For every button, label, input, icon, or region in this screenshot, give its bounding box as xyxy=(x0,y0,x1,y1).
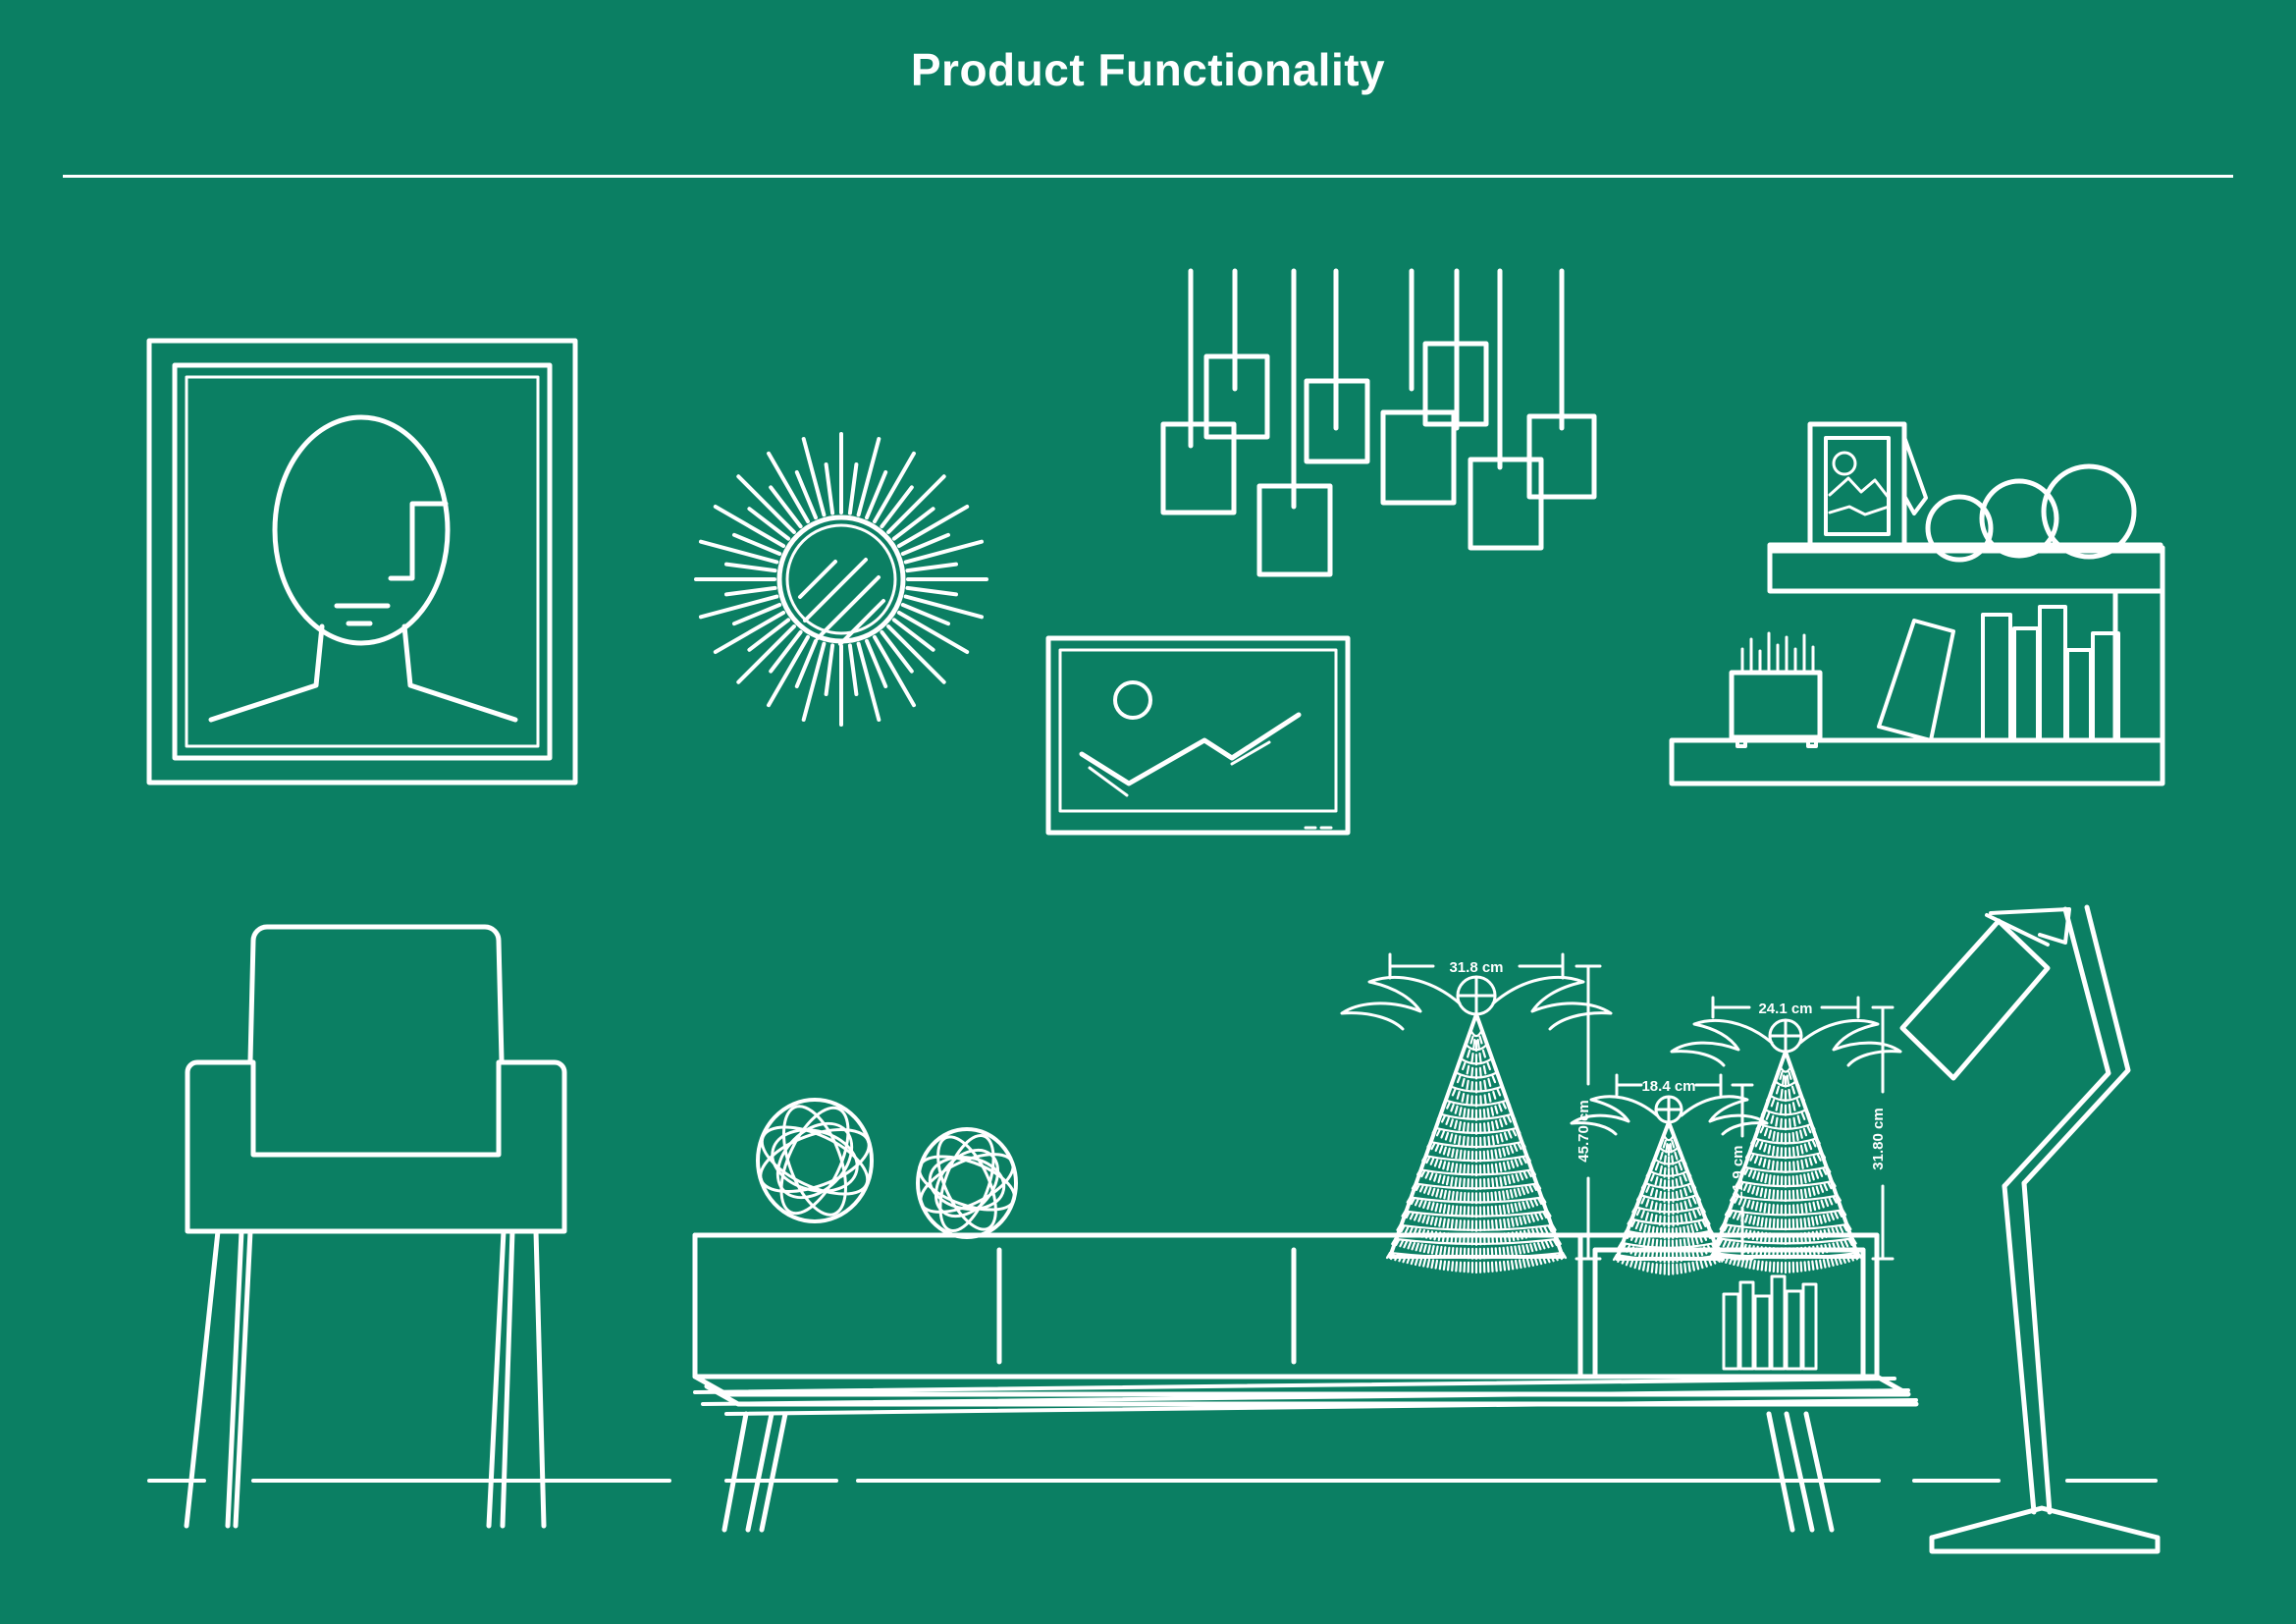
landscape-picture-hit[interactable] xyxy=(1048,638,1348,833)
console-sideboard-hit[interactable] xyxy=(693,1227,1881,1532)
dim-label-tree-small-width: 18.4 cm xyxy=(1641,1078,1695,1095)
framed-portrait-hit[interactable] xyxy=(149,341,575,783)
pendant-lights-hit[interactable] xyxy=(1158,265,1600,579)
illustration-canvas: Product Functionality xyxy=(0,0,2296,1624)
dim-label-tree-large-height: 45.70 cm xyxy=(1575,1100,1592,1162)
page-title: Product Functionality xyxy=(0,43,2296,96)
dim-label-tree-medium-width: 24.1 cm xyxy=(1758,1001,1812,1017)
dim-label-tree-small-height: 21.9 cm xyxy=(1730,1145,1746,1199)
sunburst-mirror-hit[interactable] xyxy=(687,412,1001,746)
dimension-lines xyxy=(1390,954,1893,1259)
header-divider xyxy=(63,175,2233,178)
dim-label-tree-medium-height: 31.80 cm xyxy=(1870,1108,1887,1169)
dim-label-tree-large-width: 31.8 cm xyxy=(1449,959,1503,976)
decor-balls[interactable] xyxy=(752,1098,1021,1237)
floor-lamp-hit[interactable] xyxy=(1895,903,2169,1556)
wall-shelves-hit[interactable] xyxy=(1669,422,2164,787)
armchair-hit[interactable] xyxy=(185,923,567,1532)
